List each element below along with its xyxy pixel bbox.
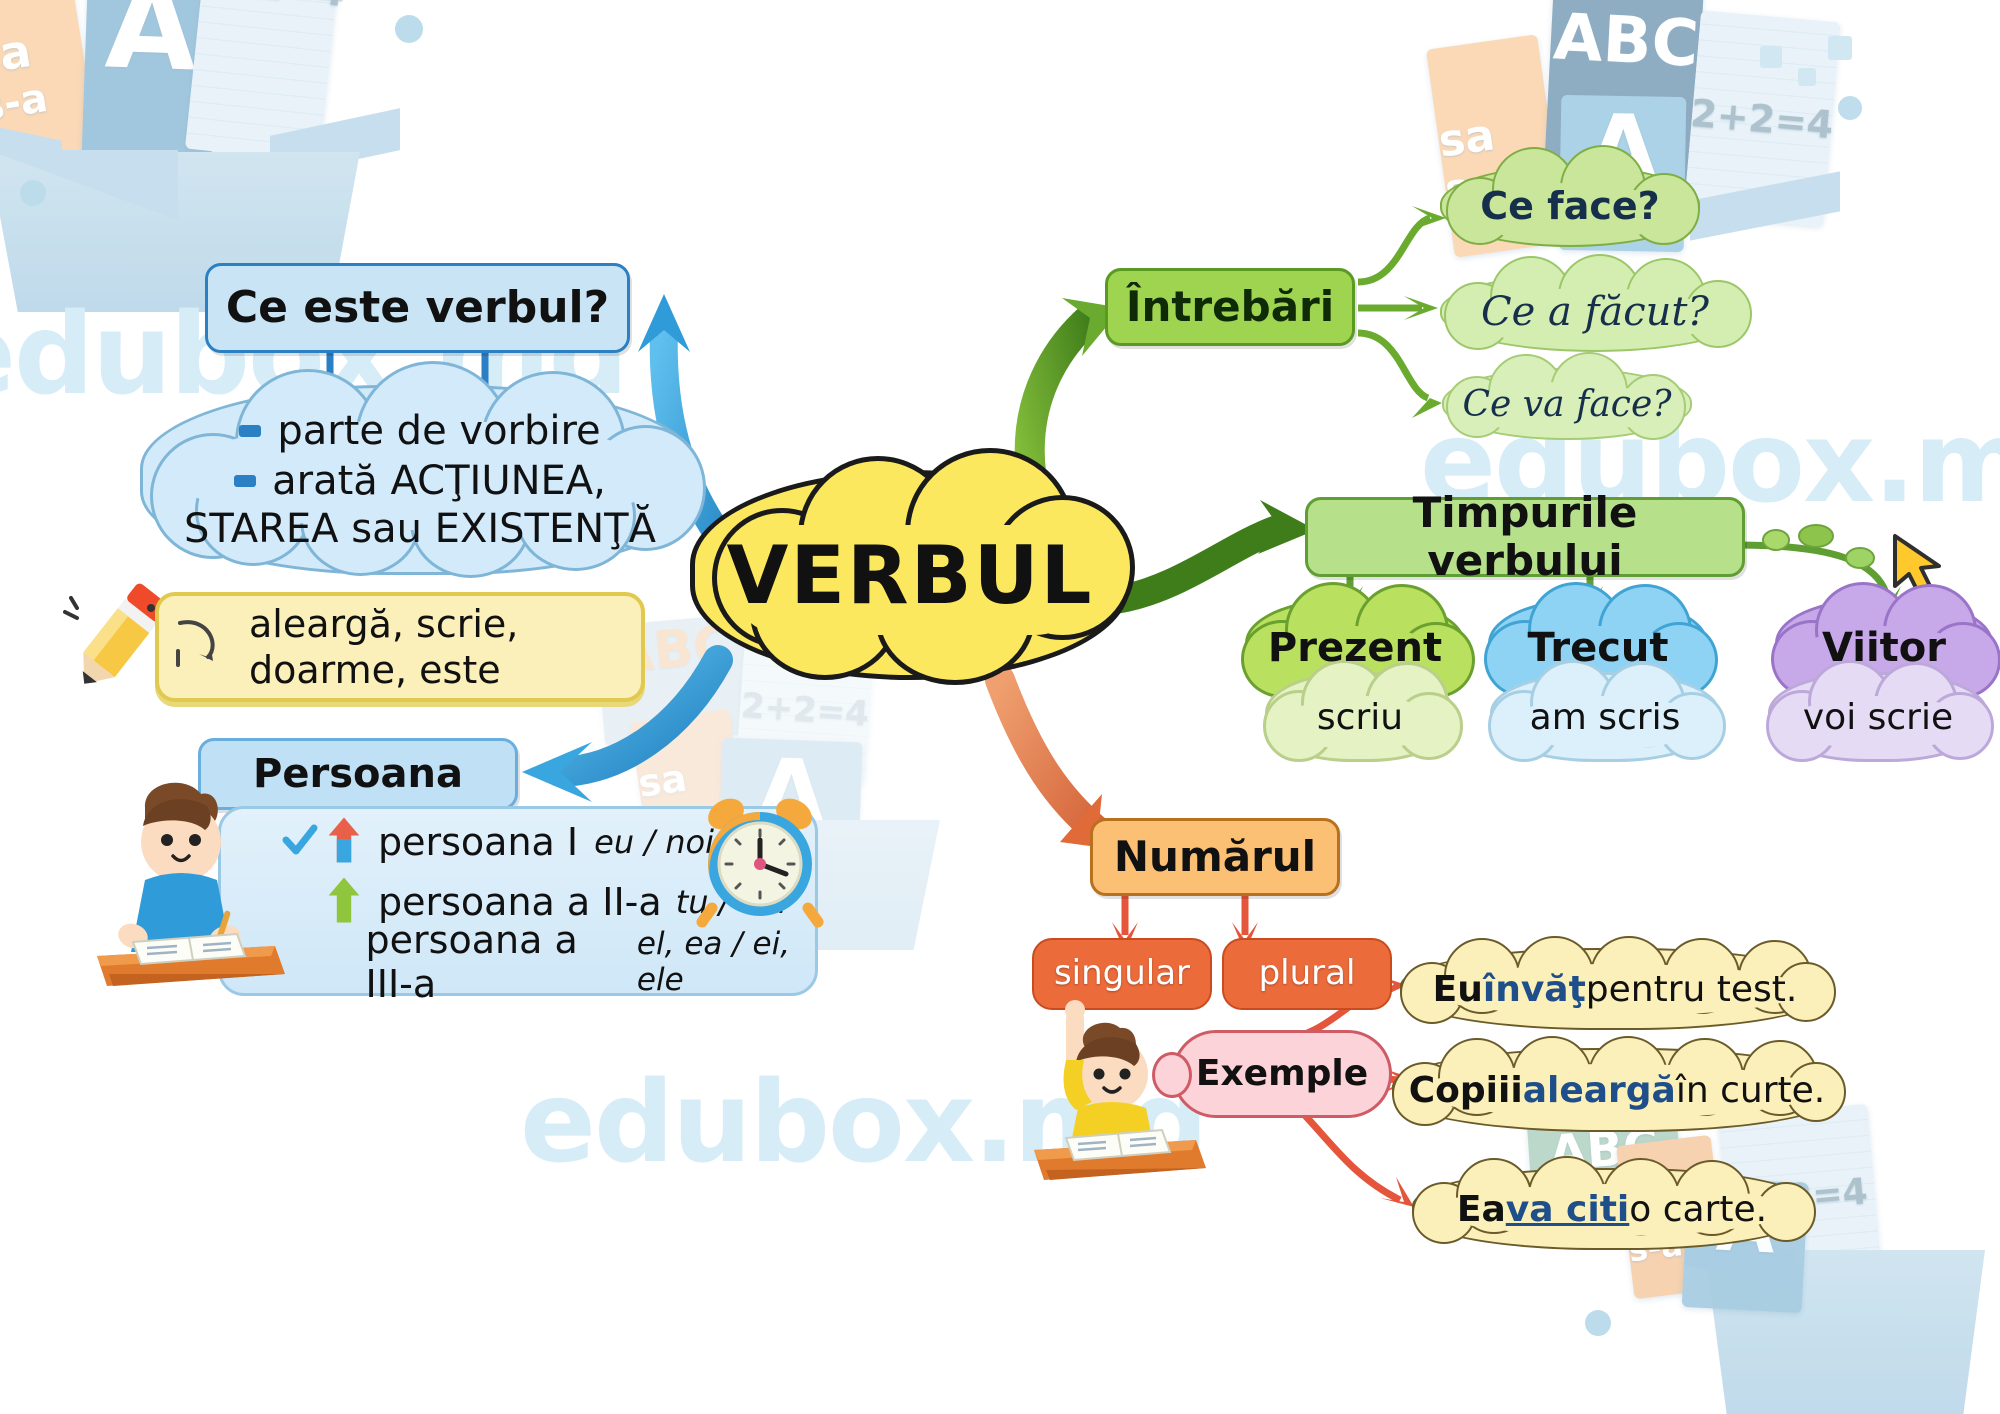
decor-sheet-label: sa [635, 756, 689, 806]
center-node-verbul[interactable]: VERBUL [690, 470, 1130, 680]
sentence-pre: Copiii [1409, 1070, 1523, 1111]
tense-example: scriu [1317, 697, 1403, 738]
header-label: Numărul [1114, 833, 1316, 881]
sentence-verb: aleargă [1523, 1070, 1676, 1111]
definition-examples-label: aleargă, scrie, doarme, este [249, 601, 641, 694]
boy-writing-icon [85, 760, 305, 1000]
center-node-label: VERBUL [726, 529, 1093, 622]
decor-green-blobs [1760, 518, 1890, 582]
sentence-pre: Eu [1433, 969, 1483, 1010]
header-intrebari[interactable]: Întrebări [1105, 268, 1355, 346]
bullet-icon [234, 475, 256, 487]
arrow-up-icon [326, 815, 378, 869]
definition-item-1: parte de vorbire [277, 408, 600, 454]
question-label: Ce face? [1480, 184, 1659, 228]
tense-example-trecut: am scris [1490, 672, 1720, 762]
header-label: Întrebări [1126, 283, 1334, 331]
definition-item-2: arată ACŢIUNEA, [272, 458, 606, 504]
example-sentence-3: Ea va citi o carte. [1412, 1168, 1812, 1250]
tense-example-viitor: voi scrie [1768, 672, 1988, 762]
persoana-row: persoana a III-a el, ea / ei, ele [280, 932, 820, 992]
tense-name: Viitor [1822, 625, 1946, 671]
decor-box-top-left: sa s-a A 2+2=4 [0, 0, 400, 280]
sentence-post: pentru test. [1586, 969, 1798, 1010]
decor-sheet-label: ABC [1551, 0, 1700, 82]
tense-example-prezent: scriu [1265, 672, 1455, 762]
numar-value-label: plural [1259, 954, 1356, 993]
tense-example: am scris [1530, 697, 1681, 738]
header-timpurile-verbului[interactable]: Timpurile verbului [1305, 497, 1745, 577]
decor-sheet-label: A [103, 0, 199, 98]
question-cloud-3: Ce va face? [1442, 368, 1692, 440]
numar-value-plural[interactable]: plural [1222, 938, 1392, 1010]
header-ce-este-verbul[interactable]: Ce este verbul? [205, 263, 630, 353]
tense-name: Trecut [1527, 625, 1668, 671]
example-sentence-1: Eu învăţ pentru test. [1400, 948, 1830, 1030]
definition-cloud: parte de vorbire arată ACŢIUNEA, STAREA … [140, 385, 700, 575]
persoana-row-main: persoana a III-a [366, 918, 623, 1006]
decor-sheet-label: 2+2=4 [1689, 90, 1835, 146]
persoana-row-sub: el, ea / ei, ele [637, 926, 820, 998]
boy-raising-hand-icon [1000, 1000, 1230, 1190]
question-cloud-1: Ce face? [1440, 165, 1700, 247]
sentence-verb: învăţ [1483, 969, 1586, 1010]
header-label: Timpurile verbului [1308, 489, 1742, 586]
question-label: Ce va face? [1462, 384, 1671, 425]
persoana-row-main: persoana I [378, 820, 578, 864]
decor-sheet-label: 2+2=4 [740, 686, 870, 735]
bullet-icon [239, 425, 261, 437]
question-cloud-2: Ce a făcut? [1440, 272, 1750, 352]
infographic-canvas: sa s-a A 2+2=4 sa s-a ABC A 2+2=4 [0, 0, 2000, 1414]
tense-example: voi scrie [1803, 697, 1953, 738]
definition-item-3: STAREA sau EXISTENŢĂ [184, 506, 656, 552]
decor-sheet-label: s-a [0, 75, 51, 131]
sentence-verb: va citi [1506, 1189, 1630, 1230]
alarm-clock-icon [690, 790, 830, 930]
squiggle-icon [168, 605, 258, 685]
sentence-pre: Ea [1457, 1189, 1506, 1230]
decor-sheet-label: sa [1435, 109, 1497, 167]
tense-name: Prezent [1268, 625, 1442, 671]
question-label: Ce a făcut? [1481, 289, 1709, 335]
example-sentence-2: Copiii aleargă în curte. [1392, 1048, 1842, 1132]
header-label: Ce este verbul? [226, 283, 609, 334]
check-icon [280, 820, 326, 864]
sentence-post: în curte. [1676, 1070, 1825, 1111]
header-numarul[interactable]: Numărul [1090, 818, 1340, 896]
decor-sheet-label: 2+2=4 [193, 0, 348, 16]
numar-value-label: singular [1054, 954, 1190, 993]
sentence-post: o carte. [1629, 1189, 1767, 1230]
